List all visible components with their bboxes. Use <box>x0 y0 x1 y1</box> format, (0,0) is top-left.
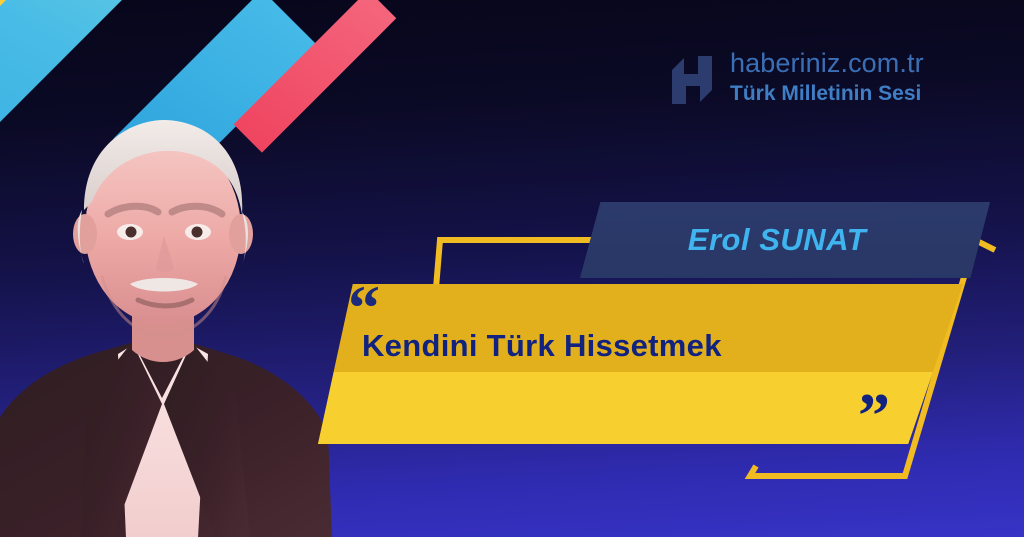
haberiniz-h-monogram-icon <box>668 52 716 108</box>
news-column-banner: haberiniz.com.tr Türk Milletinin Sesi Er… <box>0 0 1024 537</box>
site-name: haberiniz.com.tr <box>730 46 980 80</box>
author-name-banner[interactable]: Erol SUNAT <box>580 202 990 278</box>
author-name: Erol SUNAT <box>688 222 882 258</box>
site-logo[interactable]: haberiniz.com.tr Türk Milletinin Sesi <box>668 48 978 118</box>
article-title-banner[interactable]: “ Kendini Türk Hissetmek ” <box>318 284 963 444</box>
quote-close-icon: ” <box>858 384 890 448</box>
site-tagline: Türk Milletinin Sesi <box>730 80 980 108</box>
article-title: Kendini Türk Hissetmek <box>362 328 922 364</box>
columnist-portrait <box>0 98 344 537</box>
